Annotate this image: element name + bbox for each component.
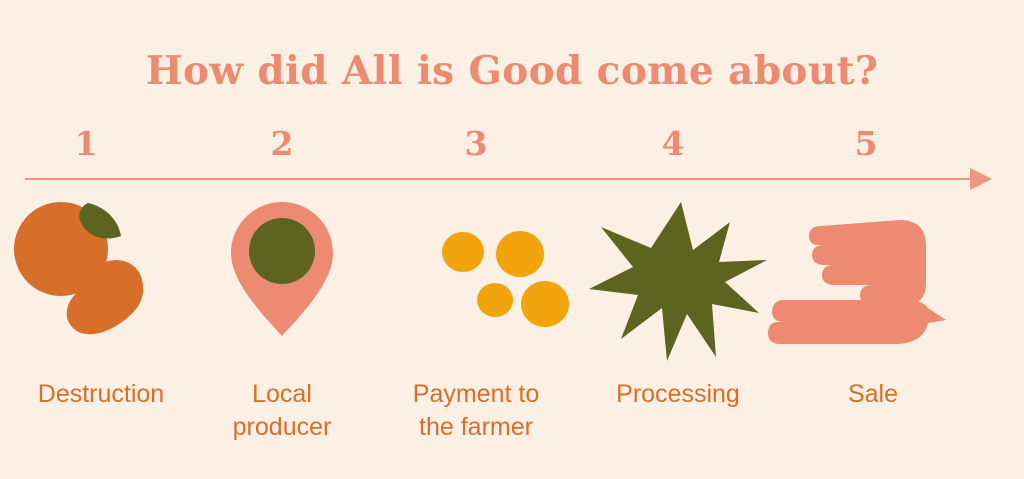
step-number-5: 5	[768, 126, 964, 162]
timeline-step-4: 4 Processing	[575, 0, 771, 479]
step-label-3-line2: the farmer	[373, 411, 579, 444]
star-burst-icon	[575, 196, 771, 366]
coins-dots-icon	[378, 196, 574, 366]
timeline-step-2: 2 Local producer	[184, 0, 380, 479]
orange-fruit-and-bean-icon	[0, 196, 184, 366]
step-label-4: Processing	[575, 378, 781, 411]
map-pin-icon	[184, 196, 380, 366]
step-label-2: Local producer	[179, 378, 385, 444]
infographic-canvas: How did All is Good come about? 1 Destru…	[0, 0, 1024, 479]
timeline-arrow-icon	[970, 168, 992, 190]
timeline-step-1: 1 Destruction	[0, 0, 184, 479]
step-label-1: Destruction	[0, 378, 204, 411]
step-number-1: 1	[0, 126, 184, 162]
step-label-3-line1: Payment to	[373, 378, 579, 411]
step-label-5: Sale	[770, 378, 976, 411]
step-number-3: 3	[378, 126, 574, 162]
timeline-step-5: 5 Sale	[768, 0, 964, 479]
step-number-4: 4	[575, 126, 771, 162]
handshake-hands-icon	[768, 196, 964, 366]
step-label-2-line2: producer	[179, 411, 385, 444]
step-label-2-line1: Local	[179, 378, 385, 411]
step-number-2: 2	[184, 126, 380, 162]
step-label-3: Payment to the farmer	[373, 378, 579, 444]
timeline-step-3: 3 Payment to the farmer	[378, 0, 574, 479]
